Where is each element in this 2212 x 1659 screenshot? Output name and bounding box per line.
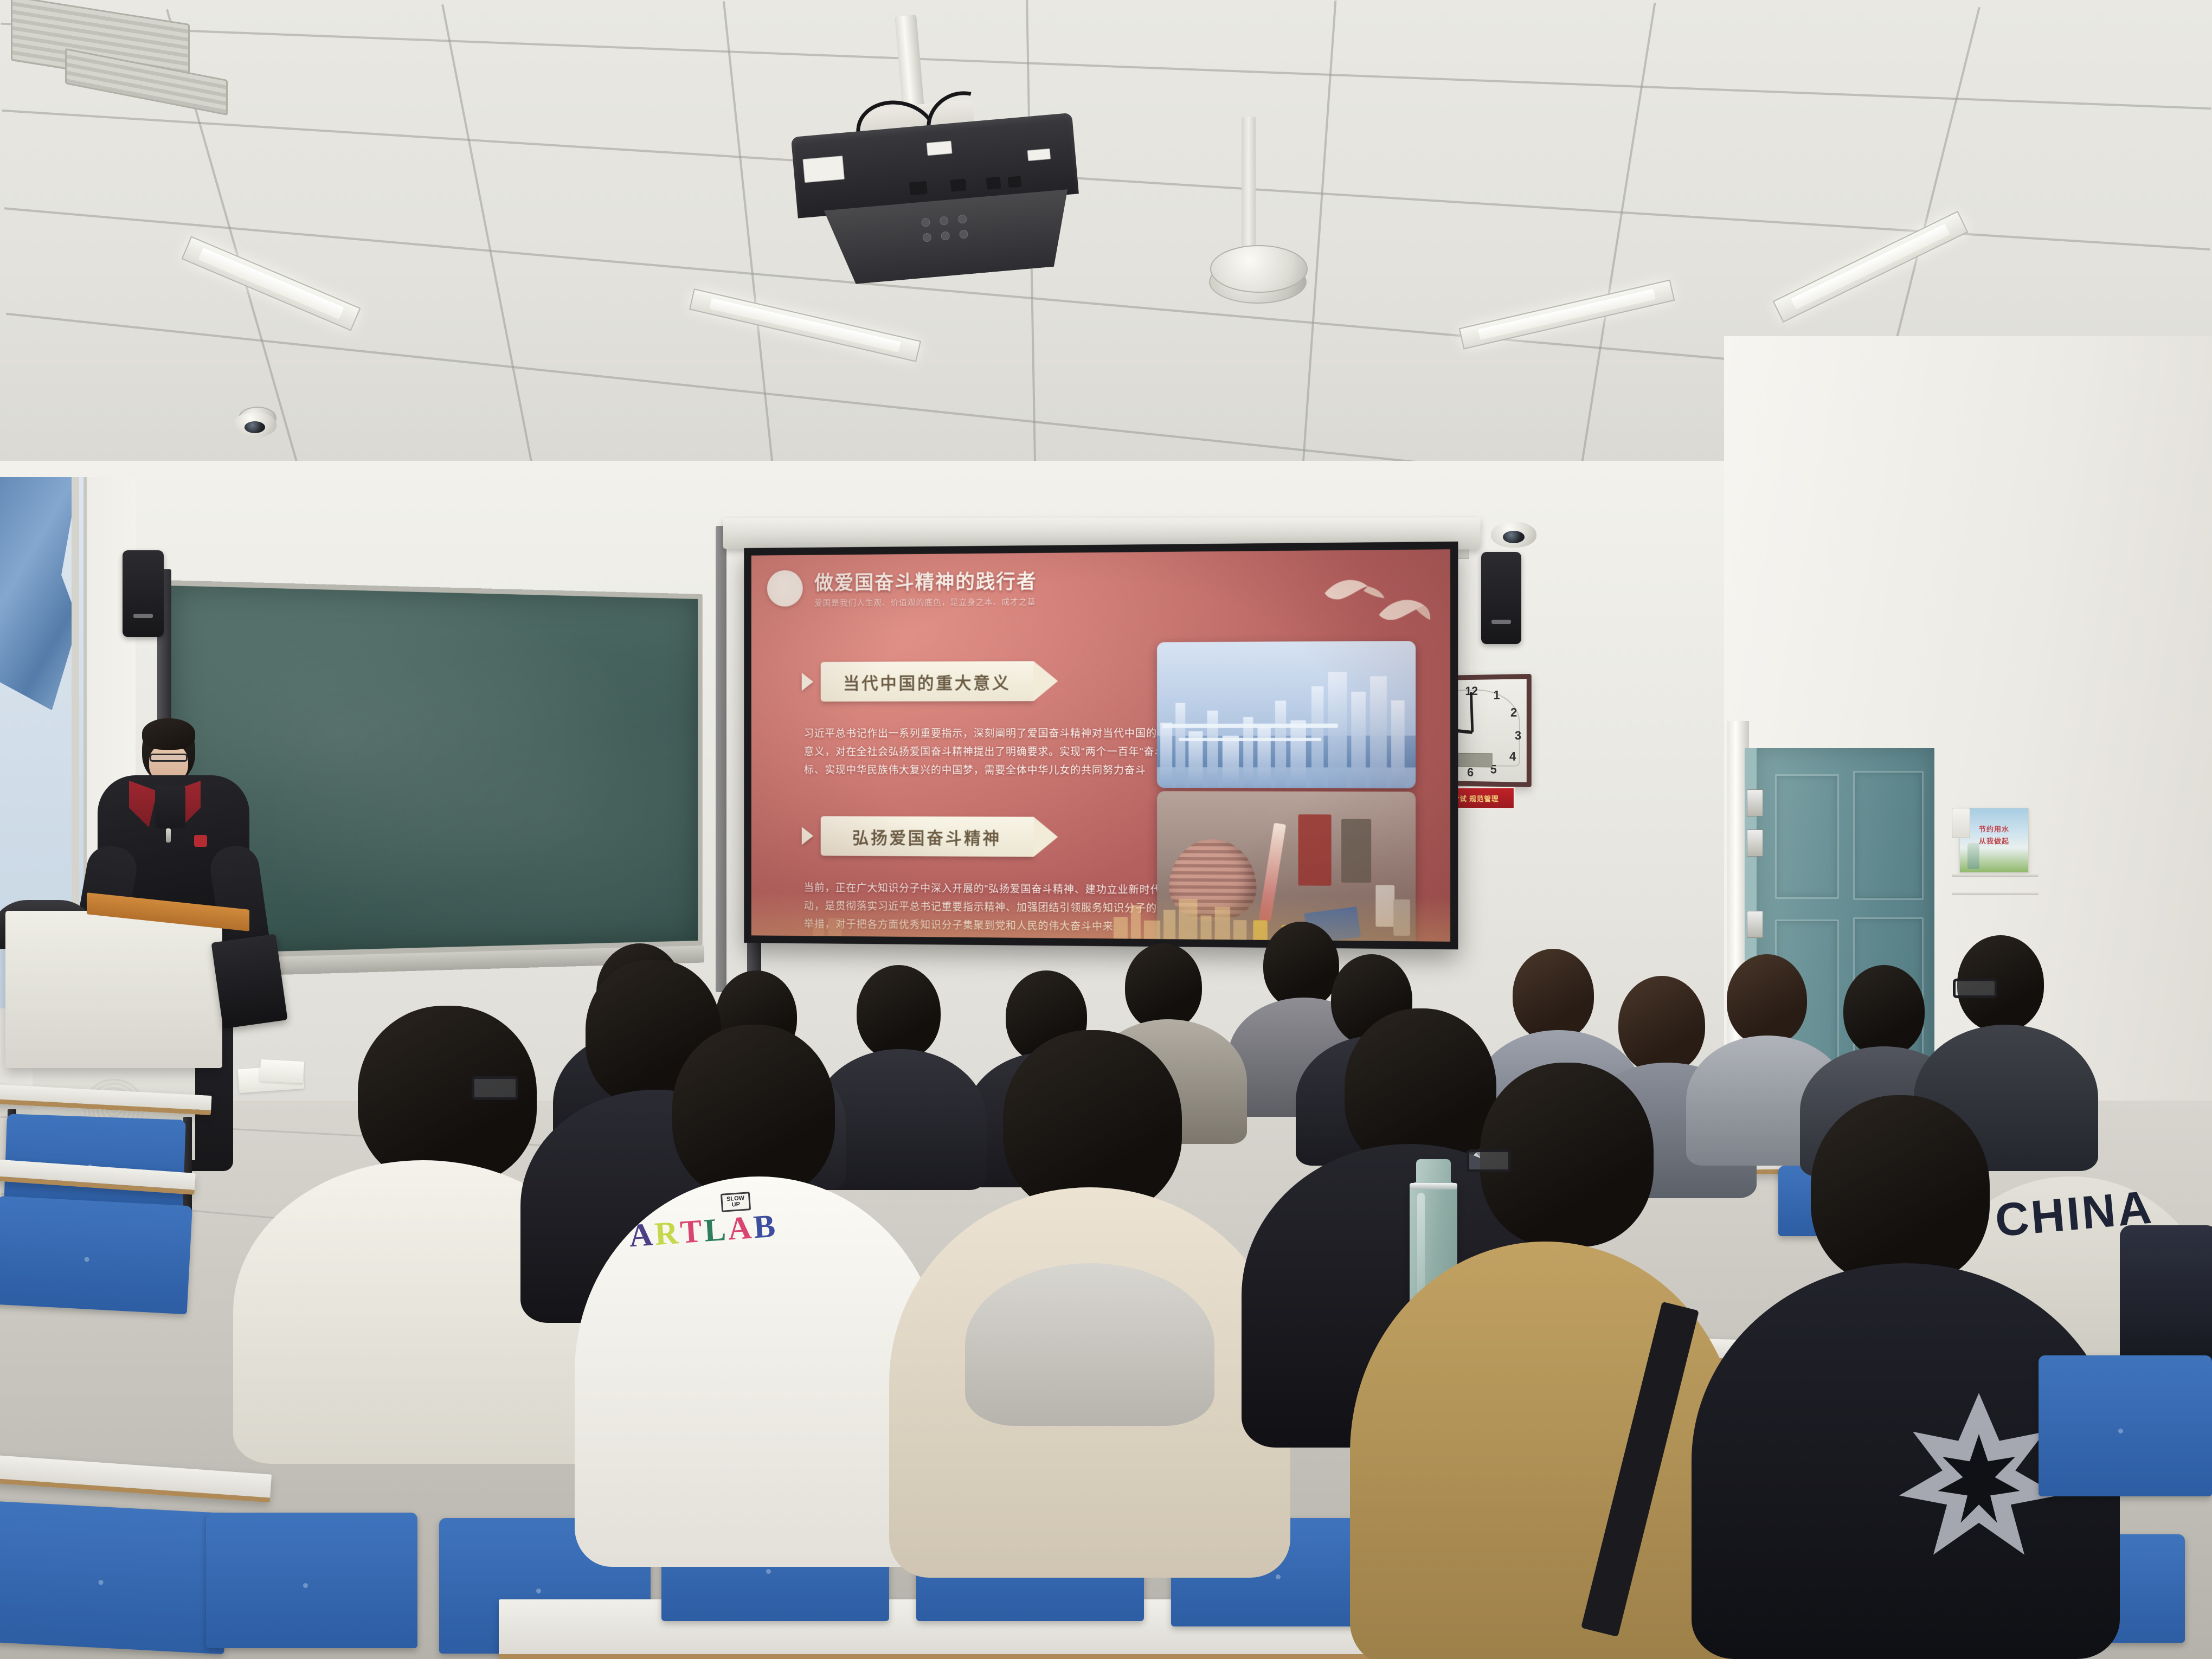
door-hinge-top (1747, 789, 1763, 816)
presenter-fringe (142, 718, 195, 750)
projection-screen: 做爱国奋斗精神的践行者 爱国是我们人生观、价值观的底色，是立身之本、成才之基 当… (744, 542, 1458, 949)
glasses-icon-khaki (1467, 1149, 1511, 1172)
tube-light-2 (689, 288, 921, 362)
wall-shelf-bottom (1952, 892, 2039, 895)
clock-num-2: 2 (1510, 705, 1517, 719)
door-hinge-mid (1747, 829, 1763, 857)
thermos-ring (1410, 1183, 1457, 1189)
chair-left-2[interactable] (0, 1196, 192, 1315)
projector-port-lan (986, 177, 1001, 190)
presenter-chest-badge (194, 835, 207, 847)
presentation-slide: 做爱国奋斗精神的践行者 爱国是我们人生观、价值观的底色，是立身之本、成才之基 当… (751, 549, 1450, 942)
ceiling-projector (791, 113, 1085, 288)
podium-monitor (211, 934, 287, 1028)
poster-bottle-icon (1967, 843, 1979, 869)
chair-bottom-1[interactable] (206, 1513, 417, 1648)
clock-num-4: 4 (1509, 749, 1516, 763)
door-panel-2 (1853, 771, 1924, 900)
projector-label-right (1027, 149, 1051, 162)
classroom-photo-scene: 12 1 2 3 4 5 6 7 8 9 10 11 诚信考试 规范管理 节约用… (0, 0, 2212, 1659)
glasses-icon-m1 (472, 1076, 518, 1100)
tube-light-1 (182, 236, 361, 331)
presenter-inner-shirt (155, 785, 185, 828)
lectern (5, 911, 222, 1068)
clock-num-3: 3 (1515, 729, 1521, 743)
projector-port-usb (1008, 176, 1022, 188)
door-hinge-bottom (1747, 911, 1763, 938)
wall-switch-box[interactable] (1952, 808, 1970, 838)
dome-camera-left (233, 412, 276, 437)
dome-camera-right (1491, 522, 1536, 548)
presenter-zipper (166, 828, 171, 843)
wall-shelf-top (1952, 874, 2039, 877)
backpack (2120, 1225, 2212, 1366)
chair-far-right[interactable] (2039, 1355, 2212, 1496)
wall-speaker-left (123, 550, 164, 637)
fan-mount-rod (1242, 117, 1256, 258)
desk-papers-2 (260, 1059, 304, 1083)
projector-label-center (927, 140, 953, 156)
tube-light-3 (1459, 280, 1675, 350)
door-panel-1 (1775, 774, 1839, 899)
clock-num-6: 6 (1467, 766, 1474, 780)
projector-port-vga (909, 181, 928, 196)
clock-num-1: 1 (1494, 688, 1500, 702)
projector-port-hdmi (950, 178, 967, 191)
tag-line-2: UP (731, 1201, 740, 1208)
glasses-icon-b8 (1953, 979, 1997, 998)
glasses-icon (150, 754, 188, 762)
projector-label-left (802, 156, 845, 183)
hoodie-hood (965, 1263, 1214, 1426)
chair-left-3[interactable] (0, 1501, 232, 1655)
ceiling-fan (1210, 245, 1308, 293)
board-rail-far-right (716, 526, 726, 992)
wall-speaker-right (1481, 552, 1521, 644)
